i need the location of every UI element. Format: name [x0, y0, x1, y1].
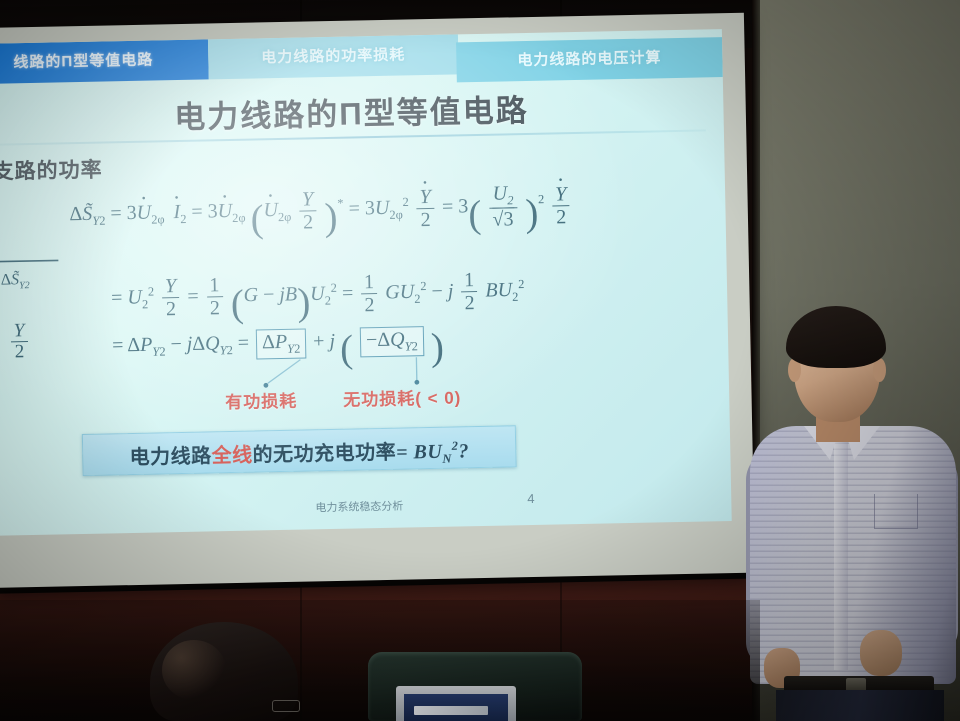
boxed-reactive-power-term: −ΔQY2 — [360, 326, 424, 357]
presenter-hand-right — [860, 630, 902, 676]
eyeglasses-temple — [272, 700, 300, 712]
equation-line-2: = U22 Y2 = 12 (G − jB)U22 = 12 GU22 − j … — [111, 269, 525, 329]
audience-hair-highlight — [162, 640, 226, 700]
highlight-question-box: 电力线路全线的无功充电功率= BUN2? — [82, 425, 517, 476]
footer-course-name: 电力系统稳态分析 — [0, 491, 731, 522]
highlight-prefix: 电力线路 — [129, 445, 211, 469]
equation-line-3: = ΔPY2 − jΔQY2 = ΔPY2 + j ( −ΔQY2 ) — [112, 325, 445, 377]
shirt-placket — [834, 440, 848, 670]
circuit-branch-power-label: ΔS̃Y2 — [1, 271, 30, 292]
tablet-screen-content — [414, 706, 488, 715]
highlight-emphasis: 全线 — [211, 445, 252, 468]
slide-subtitle: 导纳支路的功率 — [0, 154, 103, 187]
circuit-admittance-label: Y2 — [8, 321, 31, 363]
tab-pi-equivalent-circuit[interactable]: 线路的Π型等值电路 — [0, 39, 209, 84]
tab-power-loss[interactable]: 电力线路的功率损耗 — [208, 34, 459, 79]
tab-voltage-calculation[interactable]: 电力线路的电压计算 — [456, 37, 723, 82]
footer-page-number: 4 — [527, 491, 535, 506]
presenter-trousers — [776, 690, 944, 721]
shirt-pocket — [874, 494, 918, 529]
presenter — [742, 300, 960, 721]
highlight-middle: 的无功充电功率 — [252, 442, 396, 467]
photo-scene: 线路的Π型等值电路 电力线路的功率损耗 电力线路的电压计算 电力线路的Π型等值电… — [0, 0, 960, 721]
presenter-hair — [786, 306, 886, 368]
circuit-diagram-fragment: U2 ΔS̃Y2 Y2 — [0, 228, 69, 410]
annotation-reactive-power-loss: 无功损耗( < 0) — [343, 383, 462, 410]
highlight-formula: = BUN2? — [396, 440, 469, 463]
equation-line-1: ΔS̃Y2 = 3U2φ I2 = 3U2φ (U2φ Y2 )* = 3U2φ… — [69, 182, 573, 245]
annotation-active-power-loss: 有功损耗 — [225, 387, 297, 413]
projected-slide: 线路的Π型等值电路 电力线路的功率损耗 电力线路的电压计算 电力线路的Π型等值电… — [0, 29, 732, 536]
boxed-active-power-term: ΔPY2 — [256, 329, 307, 360]
presenter-shirt — [750, 426, 956, 684]
